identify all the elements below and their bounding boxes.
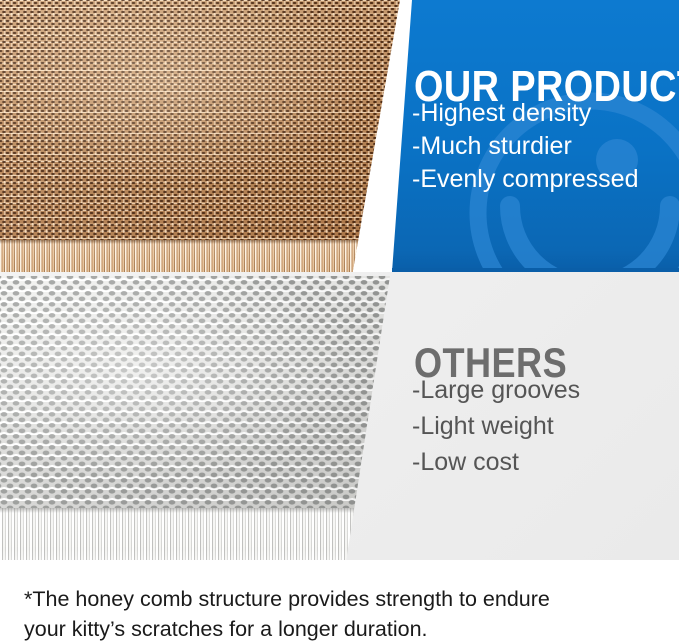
others-bullet: -Large grooves	[412, 372, 580, 408]
our-product-bullet: -Evenly compressed	[412, 163, 638, 196]
tan-pad-edge	[0, 240, 400, 276]
our-product-bullet: -Much sturdier	[412, 130, 638, 163]
our-product-bullet: -Highest density	[412, 97, 638, 130]
others-product-image	[0, 276, 392, 562]
tan-honeycomb-surface	[0, 0, 400, 242]
our-product-bullet-list: -Highest density -Much sturdier -Evenly …	[412, 97, 638, 196]
caption-line-2: your kitty’s scratches for a longer dura…	[24, 614, 664, 643]
others-bullet-list: -Large grooves -Light weight -Low cost	[412, 372, 580, 480]
our-product-image	[0, 0, 400, 276]
others-bullet: -Low cost	[412, 444, 580, 480]
footnote-caption: *The honey comb structure provides stren…	[24, 584, 664, 643]
others-bullet: -Light weight	[412, 408, 580, 444]
grey-honeycomb-surface	[0, 276, 392, 518]
grey-pad-edge	[0, 508, 392, 560]
comparison-infographic: OUR PRODUCT -Highest density -Much sturd…	[0, 0, 679, 643]
caption-line-1: *The honey comb structure provides stren…	[24, 584, 664, 614]
